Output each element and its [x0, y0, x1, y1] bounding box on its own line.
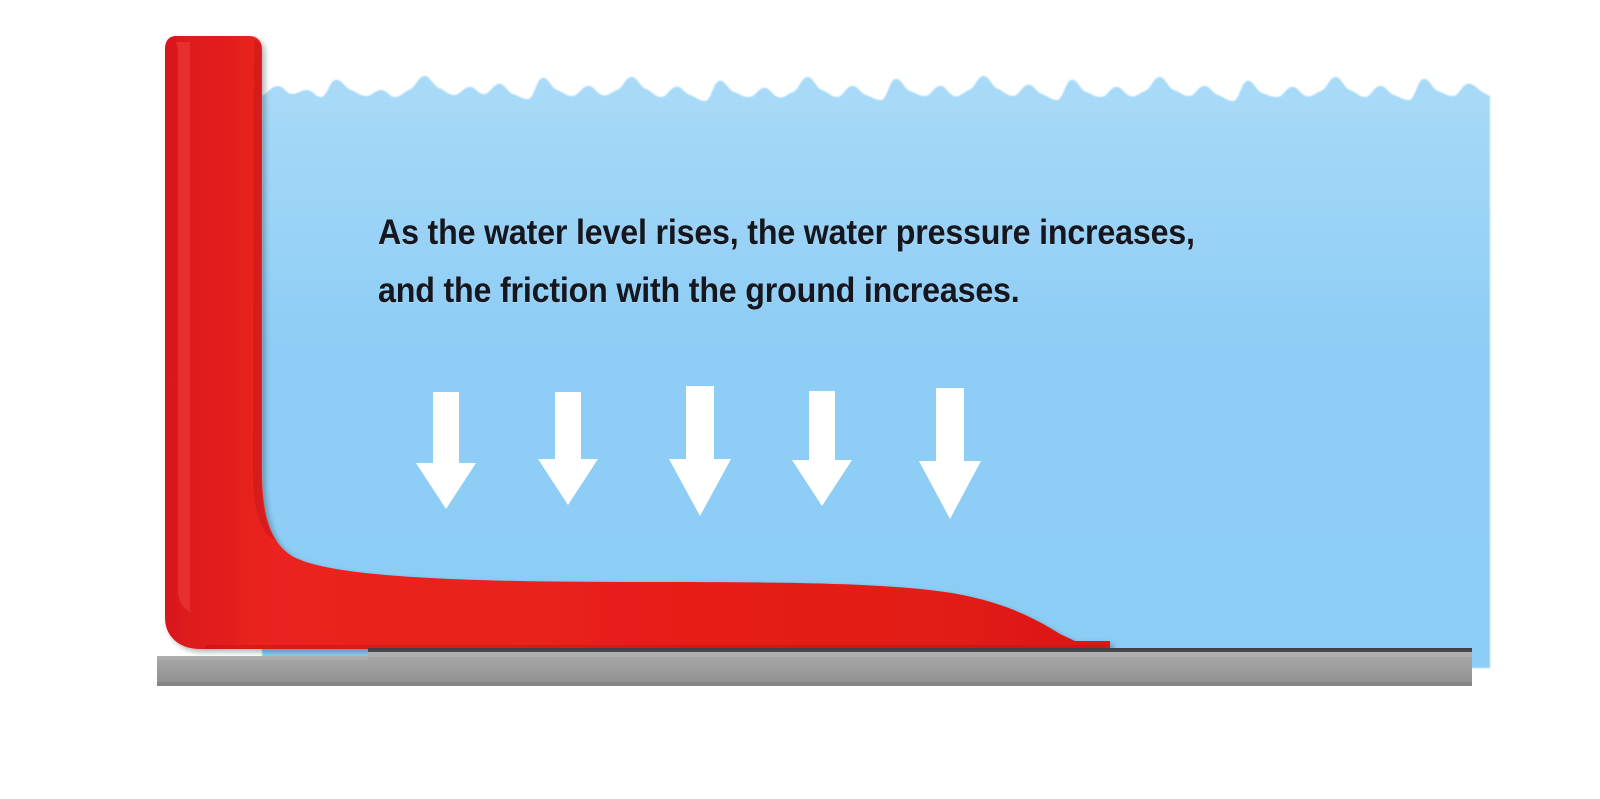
caption-text: As the water level rises, the water pres…	[378, 204, 1280, 320]
barrier-wall-highlight	[176, 42, 190, 612]
scene-svg	[0, 0, 1600, 799]
ground-bottom-shadow	[157, 682, 1472, 686]
illustration-scene: As the water level rises, the water pres…	[0, 0, 1600, 799]
